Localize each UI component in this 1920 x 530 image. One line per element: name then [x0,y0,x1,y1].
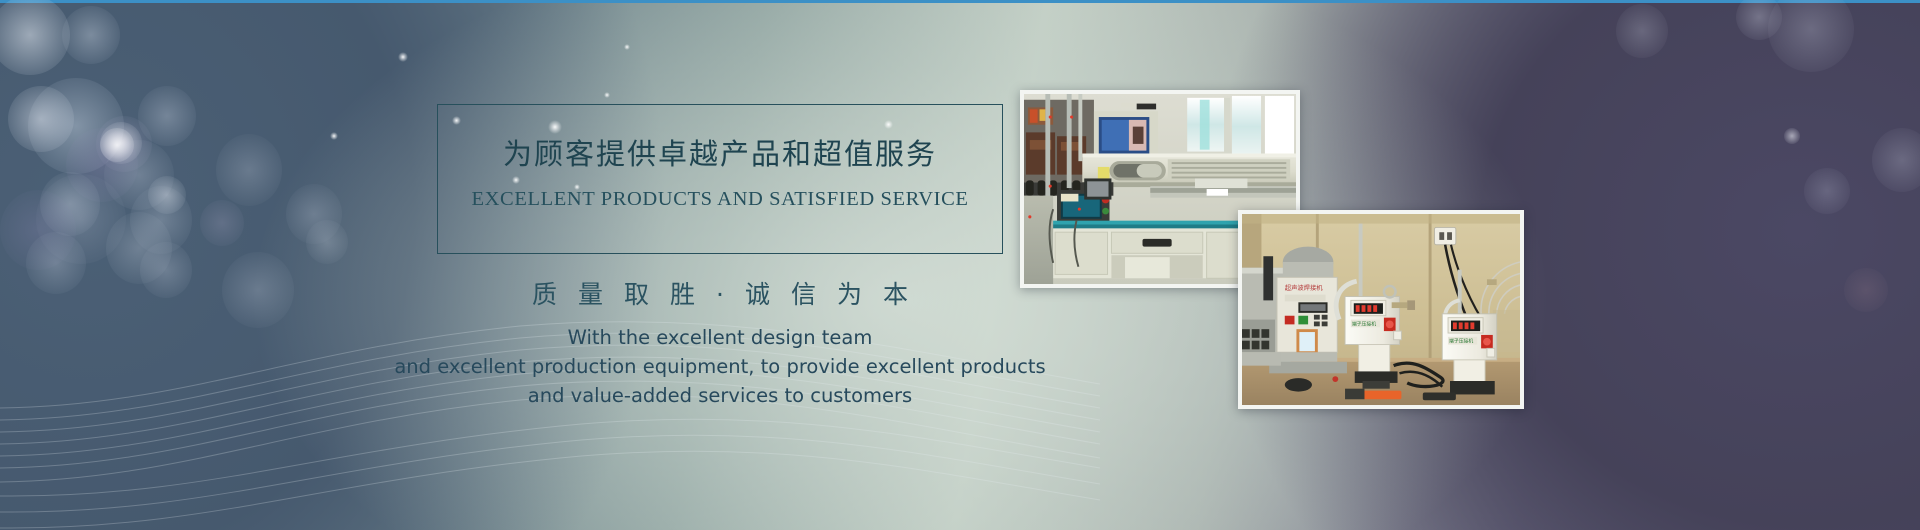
bokeh-circle [1768,0,1854,72]
svg-text:端子压接机: 端子压接机 [1449,338,1473,345]
bokeh-circle [1736,0,1782,40]
paragraph-line-1: With the excellent design team [320,323,1120,352]
paragraph-line-3: and value-added services to customers [320,381,1120,410]
svg-text:超声波焊接机: 超声波焊接机 [1285,283,1324,292]
bokeh-circle [1844,268,1888,312]
promo-banner: 为顾客提供卓越产品和超值服务 EXCELLENT PRODUCTS AND SA… [0,0,1920,530]
bokeh-circle [1804,168,1850,214]
banner-subheadline: EXCELLENT PRODUCTS AND SATISFIED SERVICE [437,188,1003,211]
banner-headline: 为顾客提供卓越产品和超值服务 [437,131,1003,173]
paragraph-line-2: and excellent production equipment, to p… [320,352,1120,381]
terminal-crimping-machines-photo[interactable]: 超声波焊接机 [1238,210,1524,409]
bokeh-circle [1616,4,1668,58]
banner-slogan: 质量取胜·诚信为本 [420,275,1020,311]
crimping-machines-illustration: 超声波焊接机 [1242,214,1520,405]
banner-paragraph: With the excellent design team and excel… [320,323,1120,410]
bokeh-circle [1784,128,1800,144]
bokeh-circle [1872,128,1920,192]
headline-frame [437,104,1003,254]
svg-text:端子压接机: 端子压接机 [1352,320,1376,327]
